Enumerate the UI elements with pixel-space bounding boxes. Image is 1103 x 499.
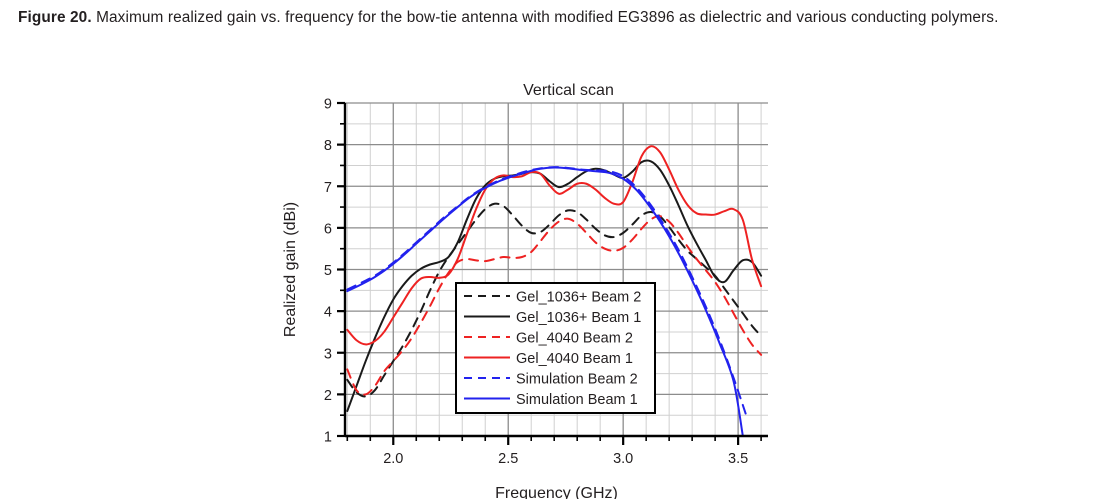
x-tick-label: 3.0 [613, 451, 633, 467]
y-tick-label: 1 [324, 430, 332, 446]
x-tick-label: 2.0 [383, 451, 403, 467]
legend-label-2: Gel_4040 Beam 2 [516, 331, 633, 347]
realized-gain-line-chart: 1234567892.02.53.03.5 Vertical scan Freq… [0, 72, 1103, 499]
legend-label-5: Simulation Beam 1 [516, 392, 638, 408]
y-tick-label: 2 [324, 388, 332, 404]
y-tick-label: 7 [324, 180, 332, 196]
legend-label-3: Gel_4040 Beam 1 [516, 351, 633, 367]
legend-label-0: Gel_1036+ Beam 2 [516, 290, 641, 306]
chart-legend: Gel_1036+ Beam 2Gel_1036+ Beam 1Gel_4040… [456, 283, 655, 413]
y-tick-label: 5 [324, 263, 332, 279]
y-tick-label: 8 [324, 138, 332, 154]
figure-chart-area: 1234567892.02.53.03.5 Vertical scan Freq… [0, 72, 1103, 499]
y-axis-title: Realized gain (dBi) [282, 202, 299, 337]
y-tick-label: 3 [324, 346, 332, 362]
x-tick-label: 2.5 [498, 451, 518, 467]
plot-title: Vertical scan [523, 82, 614, 99]
legend-label-1: Gel_1036+ Beam 1 [516, 310, 641, 326]
y-tick-label: 4 [324, 305, 332, 321]
legend-label-4: Simulation Beam 2 [516, 372, 638, 388]
x-tick-label: 3.5 [728, 451, 748, 467]
figure-caption: Figure 20. Maximum realized gain vs. fre… [18, 2, 1083, 33]
y-tick-label: 9 [324, 97, 332, 113]
x-axis-title: Frequency (GHz) [495, 485, 618, 499]
figure-caption-text: Maximum realized gain vs. frequency for … [92, 9, 999, 26]
figure-number: Figure 20. [18, 9, 92, 26]
y-tick-label: 6 [324, 221, 332, 237]
